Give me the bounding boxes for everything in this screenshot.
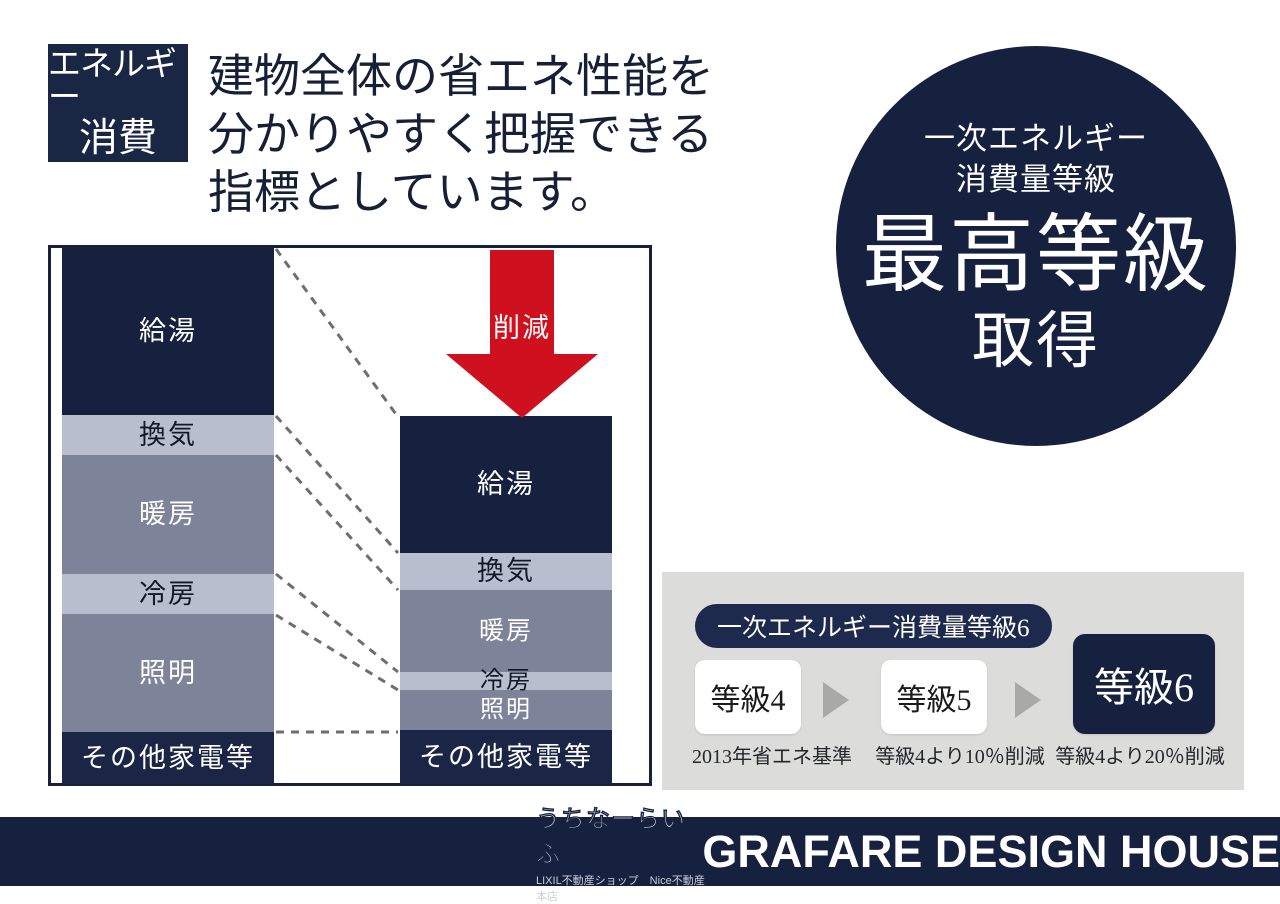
brand-japanese: うちなーらいふ LIXIL不動産ショップ Nice不動産 本店 — [536, 817, 706, 886]
badge-title: 最高等級 — [862, 214, 1210, 299]
arrow-head — [446, 354, 598, 418]
segment-cooling: 冷房 — [62, 574, 274, 614]
grade-caption-5: 等級4より10％削減 — [860, 740, 1060, 769]
grade-caption-4: 2013年省エネ基準 — [682, 740, 862, 769]
segment-other-appliances: その他家電等 — [400, 730, 612, 784]
arrow-right-icon — [1015, 682, 1041, 718]
grade-box-6: 等級6 — [1073, 634, 1215, 734]
brand-kana: うちなーらいふ — [536, 799, 706, 869]
bar-baseline: 給湯 換気 暖房 冷房 照明 その他家電等 — [62, 248, 274, 784]
chart-axis-cap-left — [48, 245, 51, 786]
grade-box-5: 等級5 — [881, 660, 987, 734]
poster-canvas: エネルギー 消費 建物全体の省エネ性能を 分かりやすく把握できる 指標としていま… — [0, 0, 1280, 886]
arrow-right-icon — [823, 682, 849, 718]
chart-axis-cap-right — [649, 245, 652, 786]
badge-subtitle: 一次エネルギー 消費量等級 — [924, 119, 1148, 200]
grade-box-4: 等級4 — [695, 660, 801, 734]
footer-bar: うちなーらいふ LIXIL不動産ショップ Nice不動産 本店 GRAFARE … — [0, 817, 1280, 886]
segment-lighting: 照明 — [400, 690, 612, 730]
badge-acquired: 取得 — [972, 311, 1100, 373]
highest-grade-badge: 一次エネルギー 消費量等級 最高等級 取得 — [836, 46, 1236, 446]
segment-ventilation: 換気 — [62, 415, 274, 455]
reduction-arrow-icon: 削減 — [446, 250, 598, 418]
segment-cooling: 冷房 — [400, 672, 612, 690]
brand-subtitle: LIXIL不動産ショップ Nice不動産 本店 — [536, 872, 706, 904]
grade-caption-6: 等級4より20％削減 — [1050, 740, 1230, 769]
energy-comparison-chart: 給湯 換気 暖房 冷房 照明 その他家電等 給湯 換気 暖房 冷房 照明 その他… — [0, 0, 680, 800]
segment-hot-water: 給湯 — [400, 416, 612, 553]
footer-brand-group: うちなーらいふ LIXIL不動産ショップ Nice不動産 本店 GRAFARE … — [536, 817, 1280, 886]
grade-steps: 等級4 等級5 等級6 — [695, 660, 1215, 734]
grade-comparison-panel: 一次エネルギー消費量等級6 等級4 等級5 等級6 2013年省エネ基準 等級4… — [662, 572, 1244, 790]
segment-heating: 暖房 — [400, 590, 612, 672]
brand-english: GRAFARE DESIGN HOUSE — [702, 826, 1280, 878]
bar-improved: 給湯 換気 暖房 冷房 照明 その他家電等 — [400, 416, 612, 784]
segment-lighting: 照明 — [62, 614, 274, 732]
segment-heating: 暖房 — [62, 455, 274, 574]
segment-other-appliances: その他家電等 — [62, 732, 274, 784]
segment-hot-water: 給湯 — [62, 248, 274, 415]
grade-pill-badge: 一次エネルギー消費量等級6 — [695, 604, 1052, 648]
reduction-label: 削減 — [446, 306, 598, 345]
segment-ventilation: 換気 — [400, 553, 612, 590]
